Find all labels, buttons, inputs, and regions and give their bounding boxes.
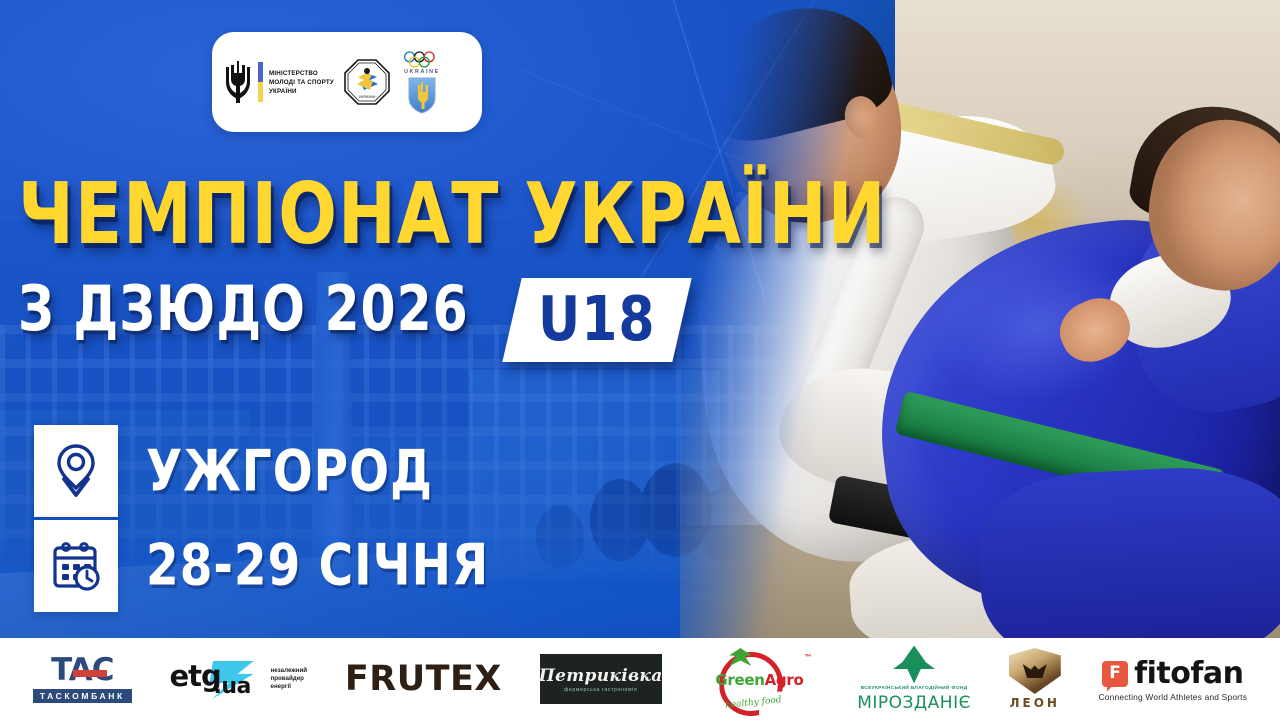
etg-logo-mark: etg .ua [170,657,266,701]
lion-head-icon [1009,648,1061,694]
greenagro-word-agro: Agro [765,671,804,689]
page-subtitle: З ДЗЮДО 2026 [18,277,469,342]
fitofan-logo-row: F fitofan [1102,656,1243,691]
location-row: УЖГОРОД [34,424,489,518]
fitofan-tagline: Connecting World Athletes and Sports [1099,692,1248,702]
page-title: ЧЕМПІОНАТ УКРАЇНИ [18,170,690,257]
noc-ukraine-logo: UKRAINE [402,51,442,114]
judo-photo: 0 0 0 0 3:0 [680,0,1280,640]
mirozdanie-logo: ВСЕУКРАЇНСЬКИЙ БЛАГОДІЙНИЙ ФОНД МІРОЗДАН… [857,646,971,713]
greenagro-word-green: Green [715,671,764,689]
sponsor-bar: TAC ТАСКОМБАНК etg .ua незалежний провай… [0,638,1280,720]
leon-logo: ЛЕОН [1009,648,1061,710]
subtitle-row: З ДЗЮДО 2026 [18,277,483,331]
petrykivka-wordmark: Петриківка [539,666,663,686]
fitofan-wordmark: fitofan [1134,656,1243,691]
sponsor-petrykivka[interactable]: Петриківка фермерська гастрономія [540,648,662,710]
fitofan-logo: F fitofan Connecting World Athletes and … [1099,656,1248,702]
sponsor-mirozdanie[interactable]: ВСЕУКРАЇНСЬКИЙ БЛАГОДІЙНИЙ ФОНД МІРОЗДАН… [857,648,971,710]
date-row: 28-29 СІЧНЯ [34,518,489,612]
fitofan-mark-letter: F [1109,665,1121,682]
sponsor-etg-ua[interactable]: etg .ua незалежний провайдер енергії [170,648,308,710]
event-poster: 0 0 0 0 3:0 [0,0,1280,720]
sponsor-fitofan[interactable]: F fitofan Connecting World Athletes and … [1099,648,1248,710]
petrykivka-subtitle: фермерська гастрономія [564,687,637,693]
event-details: УЖГОРОД 28-29 СІЧНЯ [34,424,489,612]
olympic-rings-icon [402,51,442,68]
mirozdanie-wordmark: МІРОЗДАНІЄ [857,693,971,713]
mirozdanie-subtitle: ВСЕУКРАЇНСЬКИЙ БЛАГОДІЙНИЙ ФОНД [861,686,968,691]
etg-description: незалежний провайдер енергії [271,667,308,691]
sponsor-leon[interactable]: ЛЕОН [1009,648,1061,710]
fitofan-speech-bubble-icon: F [1102,661,1128,687]
trident-shield-icon [407,76,437,114]
ministry-logo: МІНІСТЕРСТВО МОЛОДІ ТА СПОРТУ УКРАЇНИ [224,59,334,105]
ministry-logo-text: МІНІСТЕРСТВО МОЛОДІ ТА СПОРТУ УКРАЇНИ [269,69,334,96]
location-text: УЖГОРОД [146,437,433,504]
organizer-logo-bar: МІНІСТЕРСТВО МОЛОДІ ТА СПОРТУ УКРАЇНИ УК… [212,32,482,132]
leon-wordmark: ЛЕОН [1010,696,1060,710]
judo-federation-emblem: УКРАЇНИ [344,59,390,105]
map-pin-icon [34,425,118,517]
taskombank-wordmark: TAC [51,655,113,686]
age-category-badge: U18 [502,278,691,362]
sponsor-greenagro[interactable]: ™ GreenAgro healthy food [699,648,819,710]
trademark-symbol: ™ [804,654,811,661]
sponsor-taskombank[interactable]: TAC ТАСКОМБАНК [33,648,132,710]
greenagro-wordmark: GreenAgro [715,671,803,689]
noc-label: UKRAINE [404,69,440,75]
photo-left-fade [680,0,1280,640]
calendar-clock-icon [34,518,118,612]
greenagro-logo: ™ GreenAgro healthy food [699,648,819,710]
ukraine-trident-icon [224,59,252,105]
petrykivka-logo-box: Петриківка фермерська гастрономія [540,654,662,704]
etg-domain-suffix: .ua [214,674,251,699]
date-text: 28-29 СІЧНЯ [146,531,489,598]
frutex-wordmark: FRUTEX [345,659,502,699]
sponsor-frutex[interactable]: FRUTEX [345,648,502,710]
ukraine-flag-bar [258,62,263,102]
taskombank-subtitle: ТАСКОМБАНК [33,689,132,703]
mirozdanie-star-icon [893,646,935,684]
svg-text:УКРАЇНИ: УКРАЇНИ [359,94,376,99]
age-category-label: U18 [538,285,656,356]
